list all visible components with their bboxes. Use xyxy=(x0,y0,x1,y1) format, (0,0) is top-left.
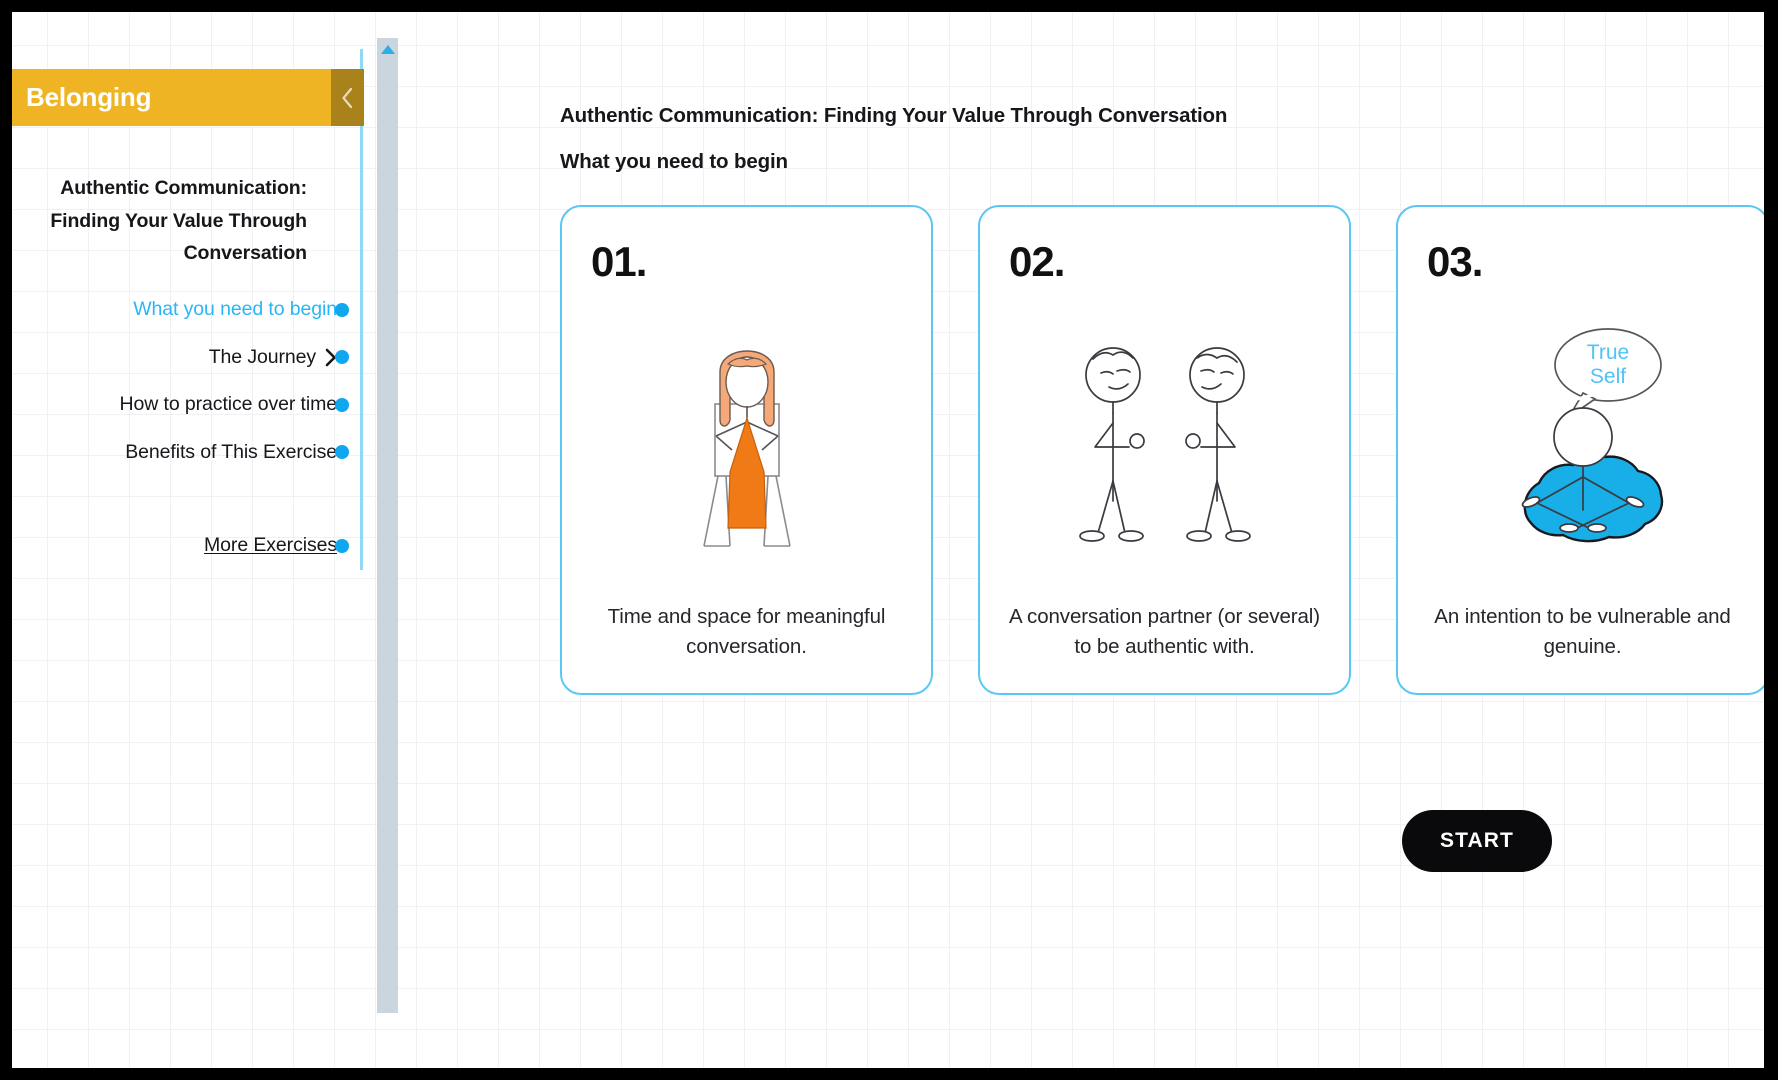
sidebar-item-label: The Journey xyxy=(209,346,316,369)
sidebar-item-benefits-of-this-exercise[interactable]: Benefits of This Exercise xyxy=(12,429,364,477)
card-01[interactable]: 01. xyxy=(560,205,933,695)
sidebar-scrollbar-track[interactable] xyxy=(377,38,398,1013)
sidebar-collapse-button[interactable] xyxy=(331,69,364,126)
two-people-talking-illustration xyxy=(980,302,1349,592)
card-02[interactable]: 02. xyxy=(978,205,1351,695)
speech-bubble-line1: True xyxy=(1587,341,1629,364)
card-caption: An intention to be vulnerable and genuin… xyxy=(1416,602,1749,662)
card-03[interactable]: 03. True Self xyxy=(1396,205,1764,695)
sidebar-scrollbar-thumb[interactable] xyxy=(377,38,398,1013)
main-content: Authentic Communication: Finding Your Va… xyxy=(400,12,1764,1068)
sidebar-nav: What you need to begin The Journey How t… xyxy=(12,286,364,476)
timeline-dot xyxy=(335,350,349,364)
sidebar-item-label: Benefits of This Exercise xyxy=(125,441,337,464)
start-button[interactable]: START xyxy=(1402,810,1552,872)
card-number: 02. xyxy=(1009,238,1064,286)
sidebar-item-the-journey[interactable]: The Journey xyxy=(12,334,364,382)
sidebar-title: Belonging xyxy=(12,82,151,113)
card-caption: A conversation partner (or several) to b… xyxy=(998,602,1331,662)
sidebar-item-how-to-practice-over-time[interactable]: How to practice over time xyxy=(12,381,364,429)
chevron-left-icon xyxy=(341,87,354,109)
more-exercises-row: More Exercises xyxy=(12,522,364,570)
page-canvas: Belonging Authentic Communication: Findi… xyxy=(12,12,1764,1068)
timeline-dot xyxy=(335,303,349,317)
person-in-orange-dress-illustration xyxy=(562,302,931,592)
speech-bubble-line2: Self xyxy=(1590,365,1626,388)
triangle-up-icon[interactable] xyxy=(381,45,395,54)
sidebar-item-label: How to practice over time xyxy=(120,393,338,416)
timeline-dot xyxy=(335,398,349,412)
page-subtitle: What you need to begin xyxy=(560,150,788,174)
sidebar-header: Belonging xyxy=(12,69,364,126)
card-number: 01. xyxy=(591,238,646,286)
sidebar-exercise-title: Authentic Communication: Finding Your Va… xyxy=(12,172,342,270)
requirement-cards: 01. xyxy=(560,205,1764,695)
page-title: Authentic Communication: Finding Your Va… xyxy=(560,104,1227,128)
timeline-dot xyxy=(335,539,349,553)
meditating-person-on-cloud-illustration: True Self xyxy=(1398,302,1764,592)
card-number: 03. xyxy=(1427,238,1482,286)
timeline-dot xyxy=(335,445,349,459)
card-caption: Time and space for meaningful conversati… xyxy=(580,602,913,662)
sidebar: Belonging Authentic Communication: Findi… xyxy=(12,12,364,1068)
sidebar-item-what-you-need-to-begin[interactable]: What you need to begin xyxy=(12,286,364,334)
more-exercises-link[interactable]: More Exercises xyxy=(204,534,337,557)
window-frame: Belonging Authentic Communication: Findi… xyxy=(0,0,1778,1080)
sidebar-item-label: What you need to begin xyxy=(133,298,337,321)
